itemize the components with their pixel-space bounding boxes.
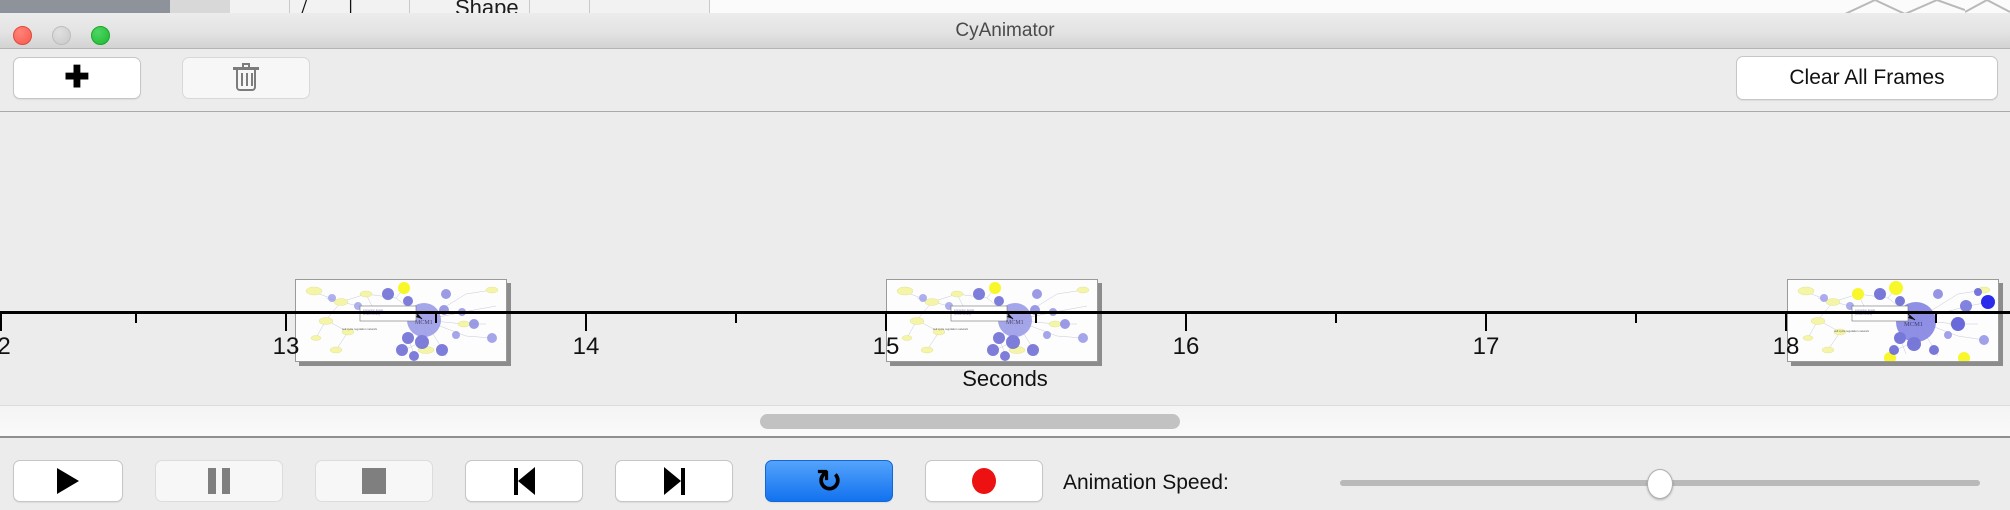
axis-tick-minor <box>735 314 737 323</box>
axis-tick-minor <box>1635 314 1637 323</box>
background-glyph-bar: | <box>348 0 353 13</box>
background-window-strip: / | Shape <box>0 0 2010 13</box>
window-title: CyAnimator <box>0 13 2010 49</box>
animation-speed-label: Animation Speed: <box>1063 471 1229 495</box>
close-button[interactable] <box>13 26 32 45</box>
axis-tick-label: 17 <box>1473 333 1500 361</box>
axis-title: Seconds <box>0 366 2010 392</box>
record-icon <box>972 468 996 494</box>
axis-tick-minor <box>435 314 437 323</box>
axis-tick-label: 2 <box>0 333 11 361</box>
cyanimator-window: / | Shape CyAnimator ✚ Clear All Frames <box>0 0 2010 510</box>
background-titlebar-dark <box>0 0 170 13</box>
skip-start-icon <box>514 467 535 495</box>
axis-tick-major <box>585 314 587 331</box>
background-shape-label: Shape <box>455 0 519 13</box>
axis-tick-minor <box>1035 314 1037 323</box>
loop-icon: ↻ <box>816 465 843 497</box>
background-cell <box>530 0 590 13</box>
axis-tick-label: 14 <box>573 333 600 361</box>
animation-speed-slider-thumb[interactable] <box>1647 469 1673 499</box>
axis-line <box>0 311 2010 314</box>
background-cell <box>590 0 710 13</box>
timeline-axis: 2 13 14 15 16 17 18 Seconds <box>0 311 2010 405</box>
background-titlebar-light <box>170 0 230 13</box>
axis-tick-major <box>0 314 2 331</box>
background-curve-left <box>1845 0 1965 13</box>
clear-all-frames-button[interactable]: Clear All Frames <box>1736 56 1998 100</box>
loop-button[interactable]: ↻ <box>765 460 893 502</box>
maximize-button[interactable] <box>91 26 110 45</box>
minimize-button[interactable] <box>52 26 71 45</box>
pause-icon <box>208 468 230 494</box>
play-icon <box>57 468 79 494</box>
stop-icon <box>362 468 386 494</box>
timeline-scrollbar[interactable] <box>0 405 2010 438</box>
delete-frame-button[interactable] <box>182 57 310 99</box>
play-button[interactable] <box>13 460 123 502</box>
skip-end-icon <box>664 467 685 495</box>
axis-tick-major <box>285 314 287 331</box>
stop-button[interactable] <box>315 460 433 502</box>
scrollbar-thumb[interactable] <box>760 414 1180 429</box>
axis-tick-major <box>1785 314 1787 331</box>
clear-all-frames-label: Clear All Frames <box>1789 66 1944 90</box>
skip-to-start-button[interactable] <box>465 460 583 502</box>
axis-tick-minor <box>135 314 137 323</box>
plus-icon: ✚ <box>64 63 89 93</box>
record-button[interactable] <box>925 460 1043 502</box>
axis-tick-label: 13 <box>273 333 300 361</box>
background-glyph-slash: / <box>300 0 307 13</box>
add-frame-button[interactable]: ✚ <box>13 57 141 99</box>
axis-tick-minor <box>1935 314 1937 323</box>
axis-tick-label: 18 <box>1773 333 1800 361</box>
background-cell <box>230 0 290 13</box>
skip-to-end-button[interactable] <box>615 460 733 502</box>
axis-tick-label: 15 <box>873 333 900 361</box>
axis-tick-major <box>885 314 887 331</box>
axis-tick-major <box>1185 314 1187 331</box>
pause-button[interactable] <box>155 460 283 502</box>
trash-icon <box>233 63 259 93</box>
axis-tick-minor <box>1335 314 1337 323</box>
axis-tick-label: 16 <box>1173 333 1200 361</box>
background-curve-right <box>1965 0 2010 13</box>
axis-tick-major <box>1485 314 1487 331</box>
